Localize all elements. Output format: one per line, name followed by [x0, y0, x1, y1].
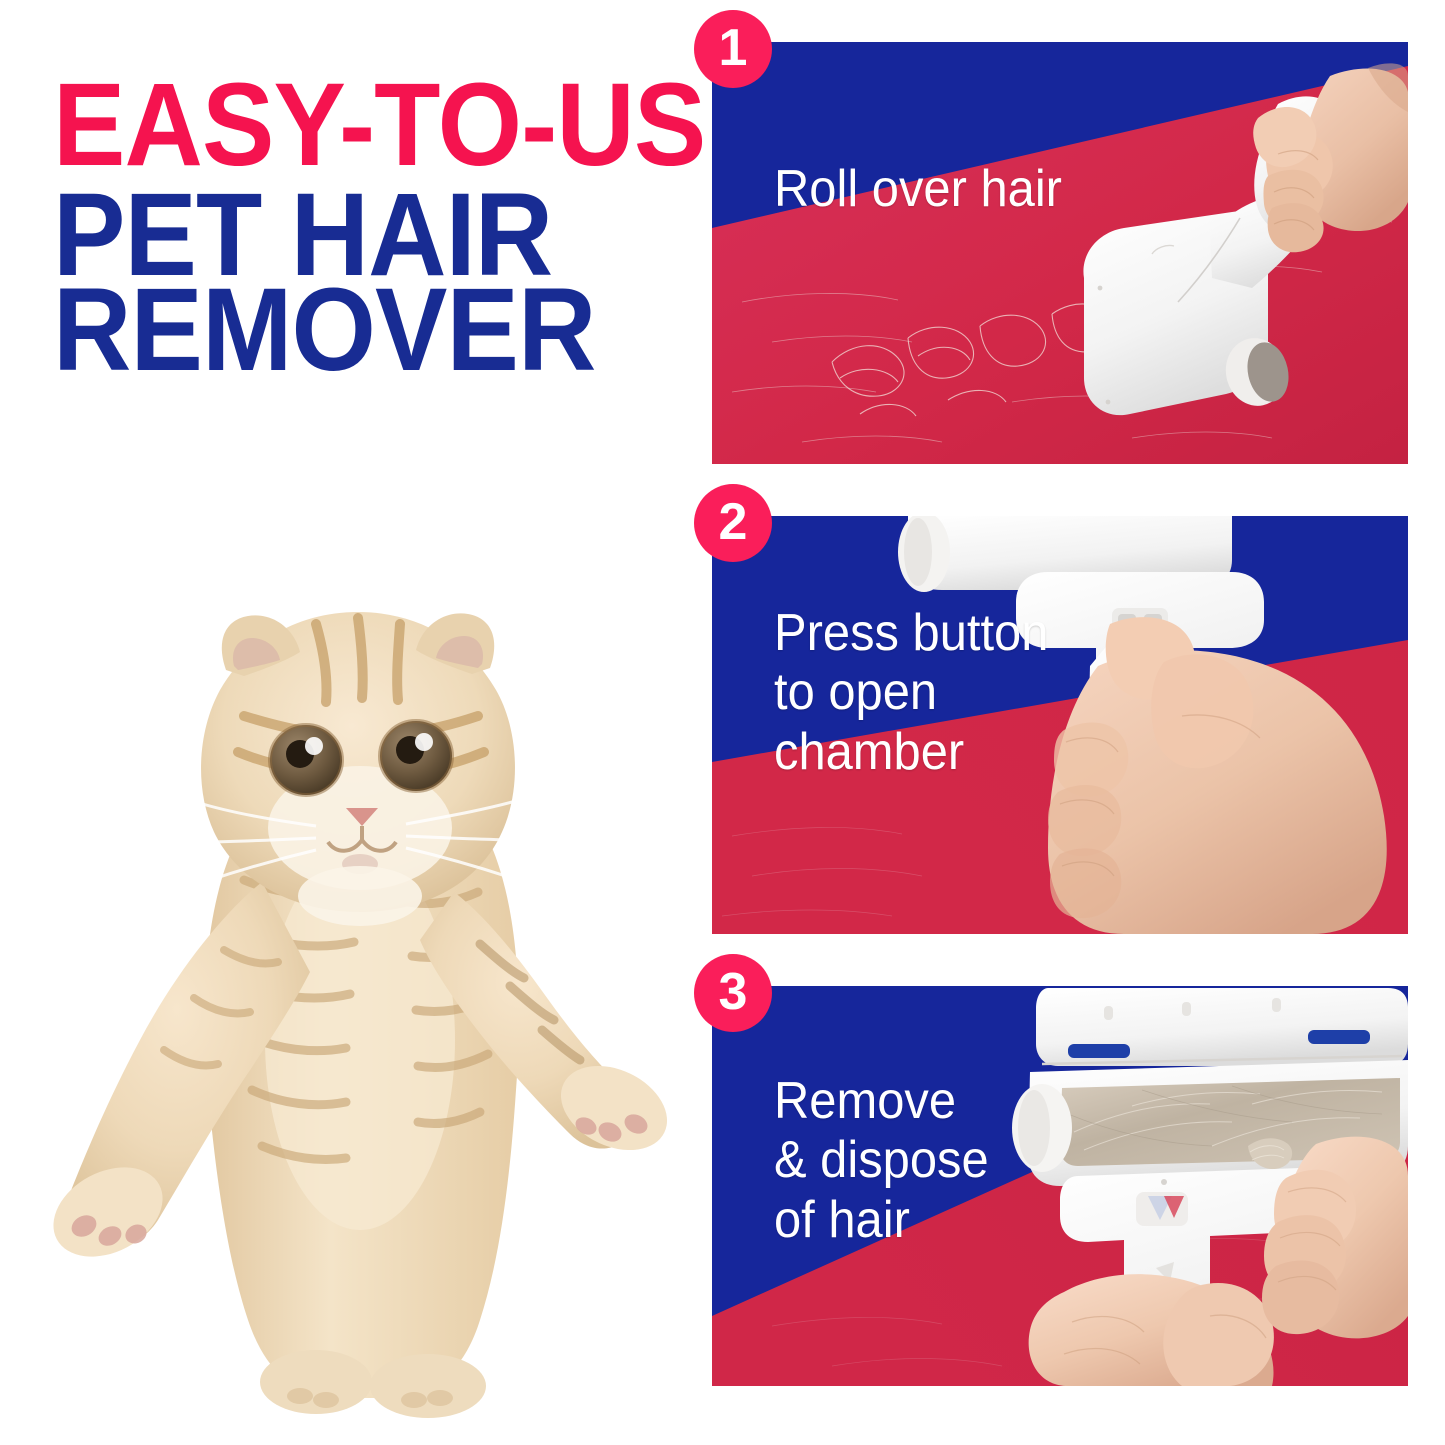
step-badge-3: 3 — [694, 954, 772, 1032]
headline-line-3: REMOVER — [53, 283, 614, 377]
page-title: EASY-TO-USE PET HAIR REMOVER — [53, 78, 663, 377]
step-1-text: Roll over hair — [774, 160, 1062, 219]
headline-line-1: EASY-TO-USE — [53, 78, 614, 172]
kitten-illustration — [48, 520, 668, 1420]
infographic-canvas: EASY-TO-USE PET HAIR REMOVER — [0, 0, 1445, 1445]
step-panel-1: Roll over hair 1 — [712, 42, 1408, 464]
step-panel-2: Press button to open chamber 2 — [712, 516, 1408, 934]
step-2-text: Press button to open chamber — [774, 604, 1048, 782]
step-panel-2-image: Press button to open chamber — [712, 516, 1408, 934]
step-3-text: Remove & dispose of hair — [774, 1072, 989, 1250]
kitten-photo — [48, 520, 668, 1420]
step-badge-2: 2 — [694, 484, 772, 562]
step-panel-3: Remove & dispose of hair 3 — [712, 986, 1408, 1386]
step-panel-3-image: Remove & dispose of hair — [712, 986, 1408, 1386]
step-badge-1: 1 — [694, 10, 772, 88]
step-1-scene — [712, 42, 1408, 464]
step-panel-1-image: Roll over hair — [712, 42, 1408, 464]
